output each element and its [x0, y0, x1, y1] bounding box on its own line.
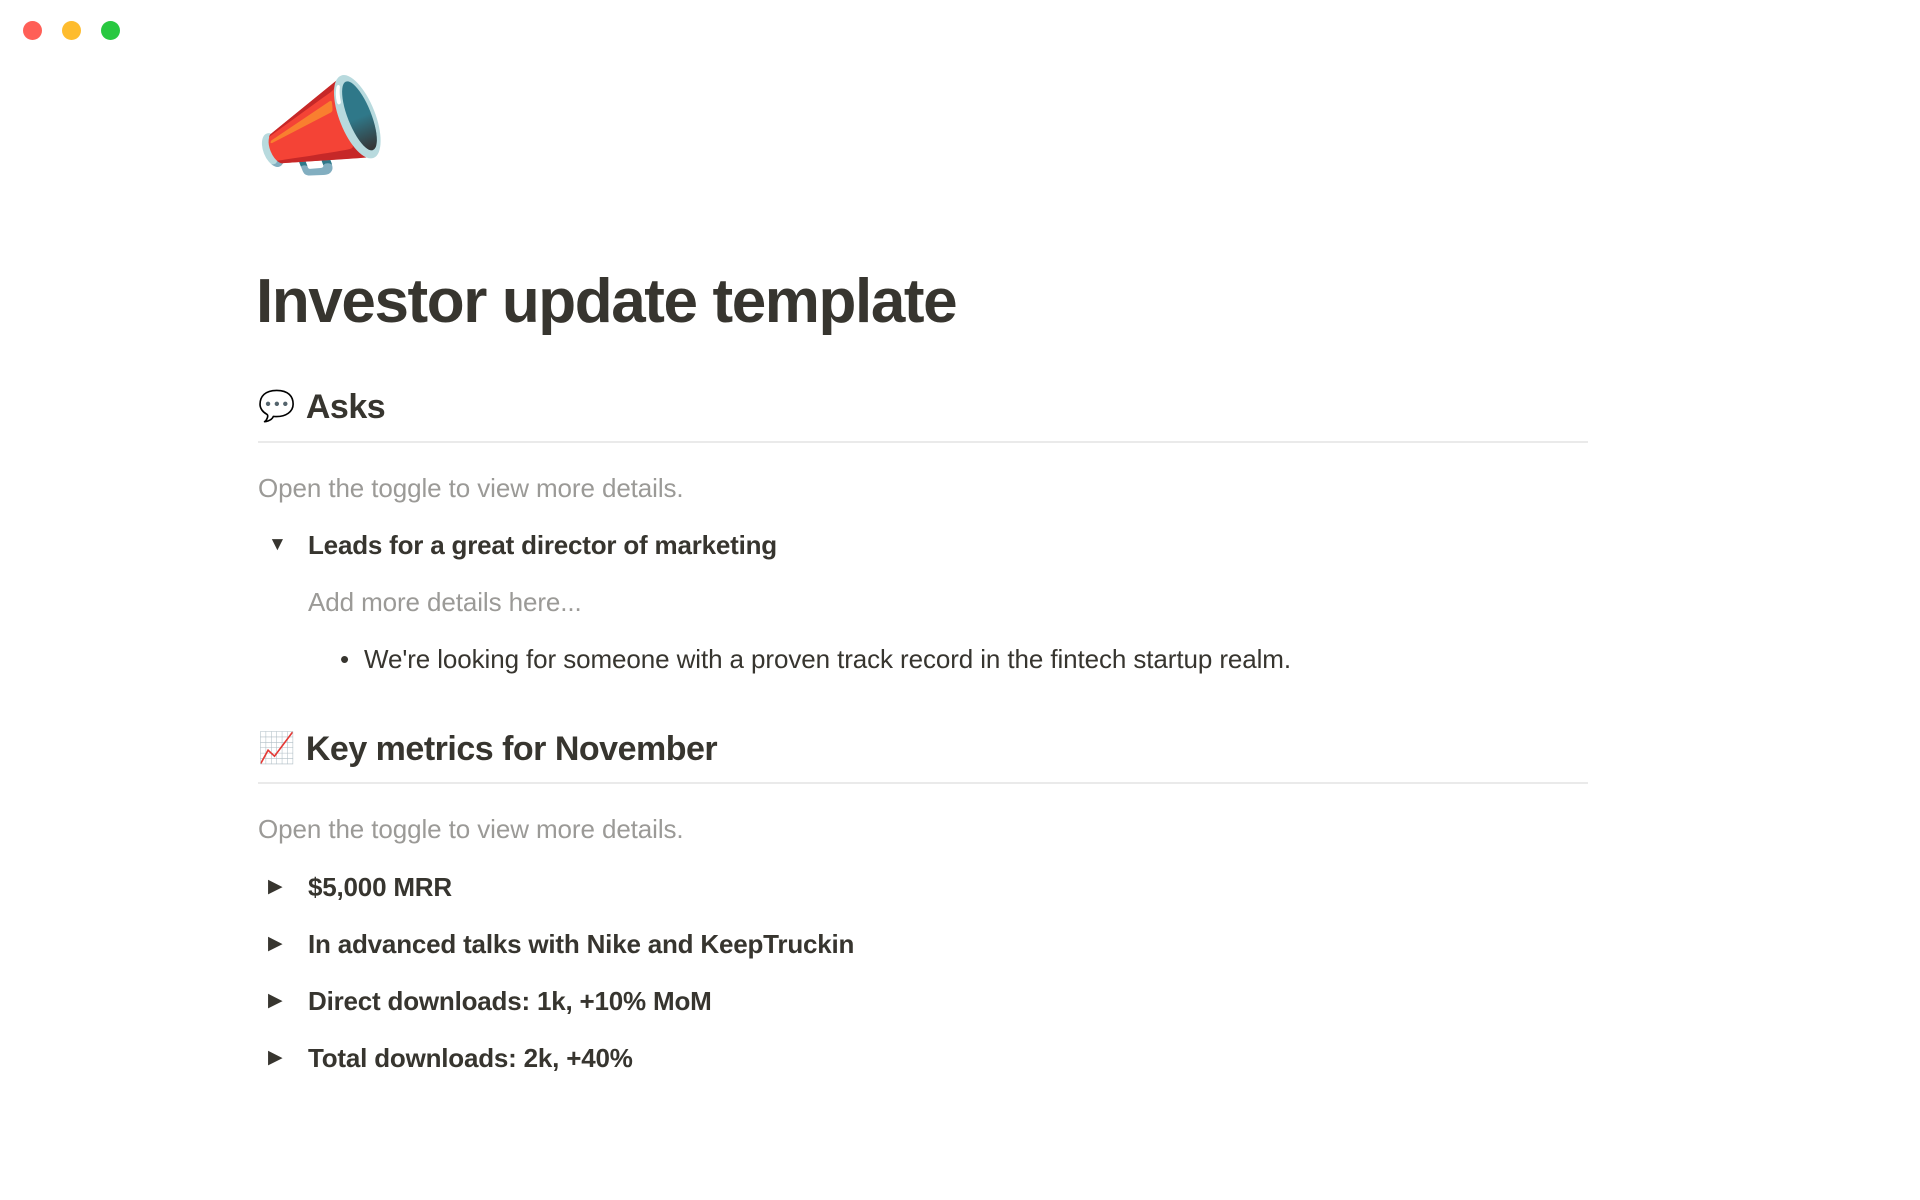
chevron-right-icon[interactable]: ▶ [268, 868, 294, 906]
speech-balloon-icon: 💬 [258, 392, 295, 422]
document-content: 📣 Investor update template 💬 Asks Open t… [258, 60, 1598, 1077]
section-heading-label: Key metrics for November [306, 728, 717, 771]
toggle-label: Total downloads: 2k, +40% [308, 1039, 633, 1077]
section-key-metrics: 📈 Key metrics for November Open the togg… [258, 728, 1598, 1078]
section-hint-text: Open the toggle to view more details. [258, 810, 1598, 849]
chevron-right-icon[interactable]: ▶ [268, 925, 294, 963]
section-divider [258, 782, 1588, 784]
bullet-dot-icon: • [340, 640, 364, 678]
window-titlebar [0, 0, 1920, 60]
page-title[interactable]: Investor update template [256, 268, 1598, 336]
section-heading-key-metrics[interactable]: 📈 Key metrics for November [258, 728, 1598, 783]
toggle-label: Leads for a great director of marketing [308, 526, 777, 564]
chevron-down-icon[interactable]: ▼ [268, 526, 294, 564]
metric-toggle-list: ▶ $5,000 MRR ▶ In advanced talks with Ni… [258, 868, 1598, 1077]
toggle-direct-downloads[interactable]: ▶ Direct downloads: 1k, +10% MoM [258, 982, 1598, 1020]
megaphone-emoji[interactable]: 📣 [254, 74, 1598, 204]
section-asks: 💬 Asks Open the toggle to view more deta… [258, 386, 1598, 678]
toggle-total-downloads[interactable]: ▶ Total downloads: 2k, +40% [258, 1039, 1598, 1077]
document-page: 📣 Investor update template 💬 Asks Open t… [0, 60, 1920, 1200]
toggle-mrr[interactable]: ▶ $5,000 MRR [258, 868, 1598, 906]
section-heading-label: Asks [306, 386, 385, 429]
toggle-advanced-talks[interactable]: ▶ In advanced talks with Nike and KeepTr… [258, 925, 1598, 963]
toggle-label: In advanced talks with Nike and KeepTruc… [308, 925, 854, 963]
close-window-button[interactable] [23, 21, 42, 40]
toggle-label: $5,000 MRR [308, 868, 452, 906]
toggle-leads-for-director[interactable]: ▼ Leads for a great director of marketin… [258, 526, 1598, 564]
section-hint-text: Open the toggle to view more details. [258, 469, 1598, 508]
toggle-children-leads: Add more details here... • We're looking… [258, 583, 1598, 678]
toggle-child-hint: Add more details here... [308, 583, 1598, 622]
chart-increasing-icon: 📈 [258, 734, 295, 764]
list-item-text: We're looking for someone with a proven … [364, 640, 1291, 678]
section-divider [258, 441, 1588, 443]
traffic-light-group [23, 21, 120, 40]
maximize-window-button[interactable] [101, 21, 120, 40]
list-item[interactable]: • We're looking for someone with a prove… [308, 640, 1598, 678]
chevron-right-icon[interactable]: ▶ [268, 1039, 294, 1077]
minimize-window-button[interactable] [62, 21, 81, 40]
section-heading-asks[interactable]: 💬 Asks [258, 386, 1598, 441]
toggle-label: Direct downloads: 1k, +10% MoM [308, 982, 712, 1020]
chevron-right-icon[interactable]: ▶ [268, 982, 294, 1020]
